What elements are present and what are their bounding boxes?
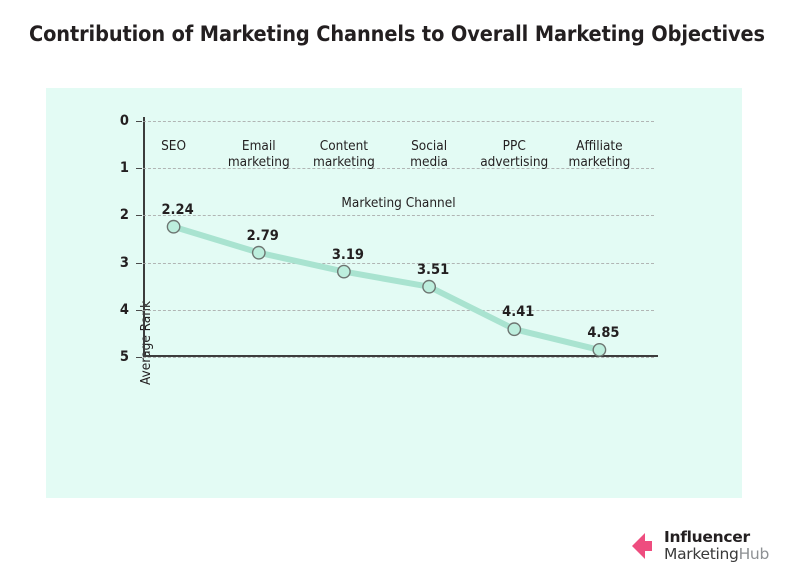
brand-hub-text: Hub [739,545,769,563]
x-tick-label-line: media [383,155,475,171]
series-line [174,227,600,350]
y-tick-label: 1 [120,160,129,176]
data-point-value-label: 2.24 [161,202,193,218]
x-tick-label-line: Social [383,139,475,155]
x-tick-label: Contentmarketing [298,139,390,171]
x-tick-label-line: marketing [553,155,645,171]
x-tick-label: Socialmedia [383,139,475,171]
page-title: Contribution of Marketing Channels to Ov… [29,22,765,47]
brand-line-2: MarketingHub [664,547,769,563]
x-tick-label-line: PPC [468,139,560,155]
x-tick-label-line: Affiliate [553,139,645,155]
data-point-value-label: 3.19 [332,247,364,263]
y-tick-mark [136,121,142,122]
brand-logo: Influencer MarketingHub [632,530,769,562]
plot-area: 012345 2.242.793.193.514.414.85 SEOEmail… [143,121,654,357]
y-tick-mark [136,310,142,311]
gridline [143,357,654,358]
brand-wordmark: Influencer MarketingHub [664,530,769,562]
brand-line-1: Influencer [664,530,769,546]
data-point-marker[interactable] [253,247,265,259]
data-point-marker[interactable] [593,344,605,356]
x-tick-label-line: marketing [298,155,390,171]
y-tick-mark [136,215,142,216]
y-tick-label: 5 [120,349,129,365]
data-point-value-label: 4.85 [587,325,619,341]
y-tick-label: 3 [120,255,129,271]
x-tick-label-line: marketing [213,155,305,171]
x-tick-label: PPCadvertising [468,139,560,171]
data-point-marker[interactable] [508,323,520,335]
x-tick-label-line: Content [298,139,390,155]
x-tick-label-line: advertising [468,155,560,171]
x-tick-label: Emailmarketing [213,139,305,171]
x-tick-label: Affiliatemarketing [553,139,645,171]
x-tick-label-line: Email [213,139,305,155]
x-axis-title: Marketing Channel [341,195,455,211]
data-point-marker[interactable] [423,281,435,293]
data-point-marker[interactable] [167,221,179,233]
x-tick-label: SEO [128,139,220,155]
x-tick-label-line: SEO [128,139,220,155]
y-tick-mark [136,168,142,169]
brand-marketing-text: Marketing [664,545,739,563]
data-point-marker[interactable] [338,265,350,277]
data-point-value-label: 4.41 [502,304,534,320]
data-point-value-label: 2.79 [247,228,279,244]
y-tick-mark [136,357,142,358]
y-tick-label: 2 [120,207,129,223]
y-tick-mark [136,263,142,264]
data-point-value-label: 3.51 [417,262,449,278]
y-tick-label: 0 [120,113,129,129]
chart-panel: Average Rank 012345 2.242.793.193.514.41… [46,88,742,498]
y-tick-label: 4 [120,302,129,318]
left-arrow-icon [632,531,660,561]
